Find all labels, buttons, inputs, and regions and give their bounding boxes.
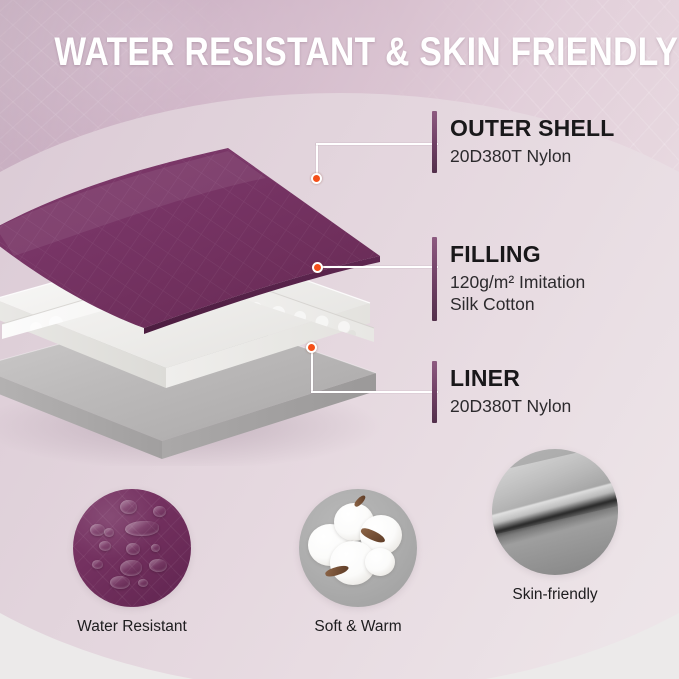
water-droplet xyxy=(149,559,167,572)
water-droplet xyxy=(104,528,114,537)
callout-outer-shell: OUTER SHELL 20D380T Nylon xyxy=(432,111,614,173)
water-droplet xyxy=(125,521,159,536)
water-droplet xyxy=(90,524,105,536)
callout-subtitle-line-1: 120g/m² Imitation xyxy=(450,272,585,294)
callout-subtitle: 20D380T Nylon xyxy=(450,146,614,168)
accent-bar xyxy=(432,111,437,173)
water-droplet xyxy=(92,560,103,569)
fabric-layer-stack-illustration xyxy=(0,96,386,466)
callout-liner: LINER 20D380T Nylon xyxy=(432,361,571,423)
cotton-boll xyxy=(365,548,395,576)
marker-dot-liner xyxy=(306,342,317,353)
feature-caption: Soft & Warm xyxy=(287,618,429,636)
accent-bar xyxy=(432,237,437,321)
accent-bar xyxy=(432,361,437,423)
callout-subtitle: 20D380T Nylon xyxy=(450,396,571,418)
feature-image-water-resistant xyxy=(73,489,191,607)
feature-water-resistant: Water Resistant xyxy=(61,489,203,636)
feature-caption: Skin-friendly xyxy=(484,586,626,604)
infographic-canvas: WATER RESISTANT & SKIN FRIENDLY xyxy=(0,0,679,679)
page-title: WATER RESISTANT & SKIN FRIENDLY xyxy=(54,30,624,75)
water-droplet-fabric-art xyxy=(73,489,191,607)
water-droplet xyxy=(120,560,142,576)
callout-title: FILLING xyxy=(450,242,585,268)
feature-image-soft-warm xyxy=(299,489,417,607)
marker-dot-filling xyxy=(312,262,323,273)
marker-dot-outer-shell xyxy=(311,173,322,184)
feature-skin-friendly: Skin-friendly xyxy=(484,449,626,604)
feature-soft-warm: Soft & Warm xyxy=(287,489,429,636)
water-droplet xyxy=(110,576,130,589)
feature-image-skin-friendly xyxy=(492,449,618,575)
water-droplet xyxy=(153,506,166,517)
callout-title: OUTER SHELL xyxy=(450,116,614,142)
water-droplet xyxy=(138,579,148,587)
callout-filling: FILLING 120g/m² Imitation Silk Cotton xyxy=(432,237,585,321)
callout-subtitle-line-2: Silk Cotton xyxy=(450,294,585,316)
feature-caption: Water Resistant xyxy=(61,618,203,636)
folded-fabric-art xyxy=(492,449,618,575)
water-droplet xyxy=(120,500,137,514)
callout-title: LINER xyxy=(450,366,571,392)
water-droplet xyxy=(99,541,111,551)
cotton-boll-art xyxy=(299,489,417,607)
